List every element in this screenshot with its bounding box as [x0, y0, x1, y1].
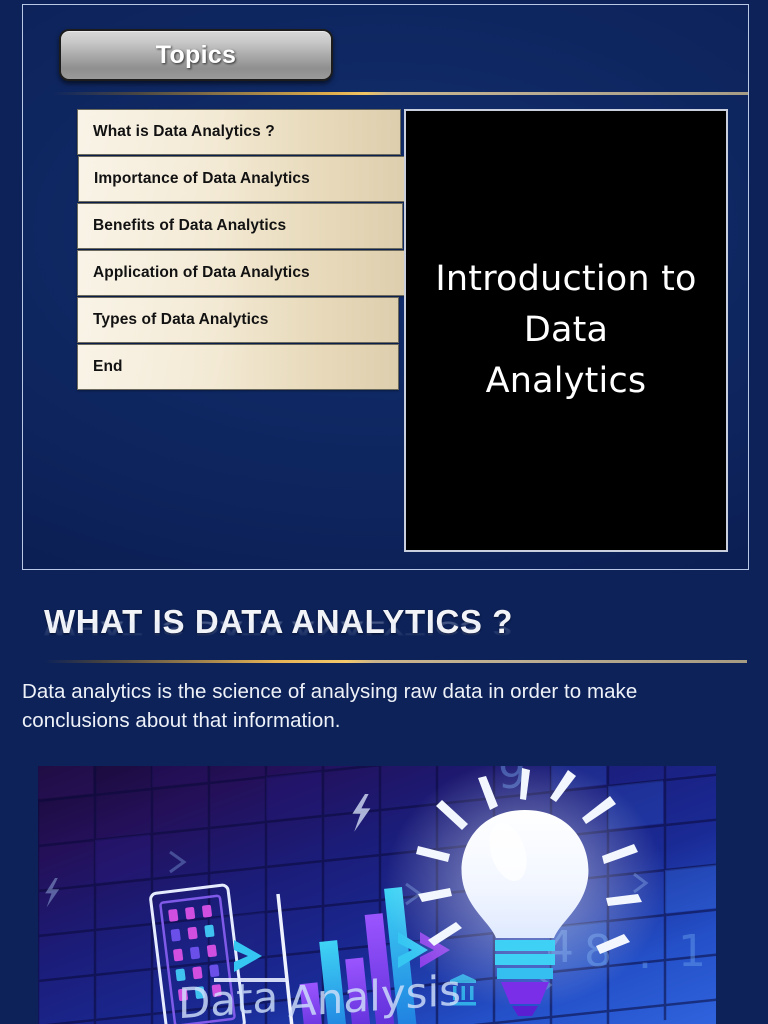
slide-panel-top: Topics What is Data Analytics ? Importan… [22, 4, 749, 570]
topic-item-label: Application of Data Analytics [78, 264, 310, 282]
topic-item-types-of-data-analytics[interactable]: Types of Data Analytics [77, 297, 399, 343]
topic-item-application-of-data-analytics[interactable]: Application of Data Analytics [77, 250, 405, 296]
data-analytics-illustration: 9 4 8 . 1 [38, 766, 716, 1024]
topic-item-label: End [78, 358, 123, 376]
page-title: WHAT IS DATA ANALYTICS ? [44, 603, 744, 641]
topic-item-benefits-of-data-analytics[interactable]: Benefits of Data Analytics [77, 203, 403, 249]
topic-item-end[interactable]: End [77, 344, 399, 390]
topic-item-label: Benefits of Data Analytics [78, 217, 286, 235]
topic-item-label: What is Data Analytics ? [78, 123, 275, 141]
title-card-line-3: Analytics [418, 356, 714, 407]
title-card-line-2: Data [418, 305, 714, 356]
topics-list: What is Data Analytics ? Importance of D… [77, 109, 401, 391]
heading-divider-rule [44, 660, 747, 663]
topic-item-importance-of-data-analytics[interactable]: Importance of Data Analytics [78, 156, 408, 202]
topic-item-label: Importance of Data Analytics [79, 170, 310, 188]
digit-1: 1 [678, 926, 706, 977]
topics-button[interactable]: Topics [59, 29, 333, 81]
topics-button-label: Topics [156, 41, 237, 70]
caption-word-data: Data [178, 972, 278, 1024]
title-card-line-1: Introduction to [418, 254, 714, 305]
topic-item-what-is-data-analytics[interactable]: What is Data Analytics ? [77, 109, 401, 155]
illustration-svg: 9 4 8 . 1 [38, 766, 716, 1024]
body-paragraph: Data analytics is the science of analysi… [22, 677, 737, 735]
topic-item-label: Types of Data Analytics [78, 311, 268, 329]
topics-divider-rule [53, 92, 748, 95]
title-card-text: Introduction to Data Analytics [406, 254, 726, 406]
title-card: Introduction to Data Analytics [404, 109, 728, 552]
section-heading-block: WHAT IS DATA ANALYTICS ? WHAT IS DATA AN… [44, 603, 744, 661]
